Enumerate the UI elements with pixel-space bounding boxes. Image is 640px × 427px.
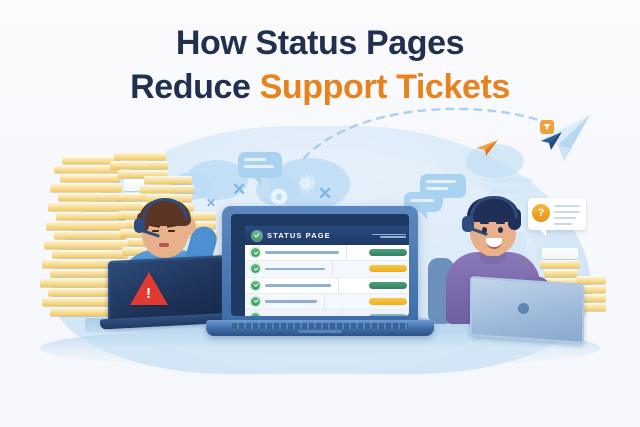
title-line-2-prefix: Reduce bbox=[130, 68, 259, 106]
row-check-icon bbox=[251, 313, 260, 316]
status-row[interactable] bbox=[245, 245, 409, 261]
x-mark-icon-a: ✕ bbox=[232, 180, 246, 200]
status-page-screen[interactable]: STATUS PAGE bbox=[245, 226, 409, 316]
infographic-canvas: How Status Pages Reduce Support Tickets … bbox=[0, 0, 640, 427]
row-check-icon bbox=[251, 264, 260, 273]
row-status-badge bbox=[369, 249, 407, 256]
decor-panel-b bbox=[492, 188, 522, 193]
x-mark-icon-b: ✕ bbox=[318, 184, 332, 204]
status-row[interactable] bbox=[245, 278, 409, 294]
gear-icon-small bbox=[268, 186, 290, 208]
row-label bbox=[265, 284, 331, 287]
title-line-2: Reduce Support Tickets bbox=[0, 66, 640, 110]
status-page-header: STATUS PAGE bbox=[245, 226, 409, 245]
central-laptop: STATUS PAGE bbox=[222, 206, 418, 338]
row-label bbox=[265, 268, 325, 271]
card-text-line bbox=[554, 223, 572, 225]
row-status-badge bbox=[369, 298, 407, 305]
card-text-line bbox=[554, 205, 580, 207]
status-page-rows bbox=[245, 245, 409, 316]
row-divider bbox=[342, 310, 343, 316]
row-divider bbox=[332, 261, 333, 276]
row-check-icon bbox=[251, 297, 260, 306]
happy-agent-laptop-logo bbox=[518, 303, 529, 314]
row-check-icon bbox=[251, 248, 260, 257]
warning-exclamation: ! bbox=[146, 286, 151, 301]
row-divider bbox=[346, 245, 347, 260]
page-title: How Status Pages Reduce Support Tickets bbox=[0, 22, 640, 109]
row-divider bbox=[324, 294, 325, 309]
laptop-keyboard[interactable] bbox=[232, 323, 408, 329]
title-line-2-highlight: Support Tickets bbox=[260, 68, 510, 106]
status-row[interactable] bbox=[245, 294, 409, 310]
laptop-trackpad[interactable] bbox=[298, 330, 342, 333]
status-row[interactable] bbox=[245, 261, 409, 277]
laptop-bezel: STATUS PAGE bbox=[231, 214, 409, 316]
paper-plane-icon-small bbox=[474, 138, 500, 158]
chat-bubble-icon-top bbox=[238, 152, 282, 178]
row-label bbox=[265, 300, 317, 303]
check-circle-icon bbox=[252, 231, 262, 241]
status-page-title: STATUS PAGE bbox=[267, 231, 331, 240]
row-label bbox=[265, 251, 339, 254]
decor-panel-a bbox=[492, 178, 532, 183]
title-line-1: How Status Pages bbox=[0, 22, 640, 66]
laptop-lid: STATUS PAGE bbox=[222, 206, 418, 324]
plane-badge-icon bbox=[540, 120, 554, 134]
status-page-meta bbox=[372, 234, 406, 238]
row-status-badge bbox=[369, 314, 407, 316]
row-check-icon bbox=[251, 281, 260, 290]
card-text-line bbox=[554, 217, 576, 219]
card-text-line bbox=[554, 211, 580, 213]
row-status-badge bbox=[369, 265, 407, 272]
status-row[interactable] bbox=[245, 310, 409, 316]
row-status-badge bbox=[369, 282, 407, 289]
row-divider bbox=[338, 278, 339, 293]
laptop-keyboard-base bbox=[206, 320, 434, 336]
